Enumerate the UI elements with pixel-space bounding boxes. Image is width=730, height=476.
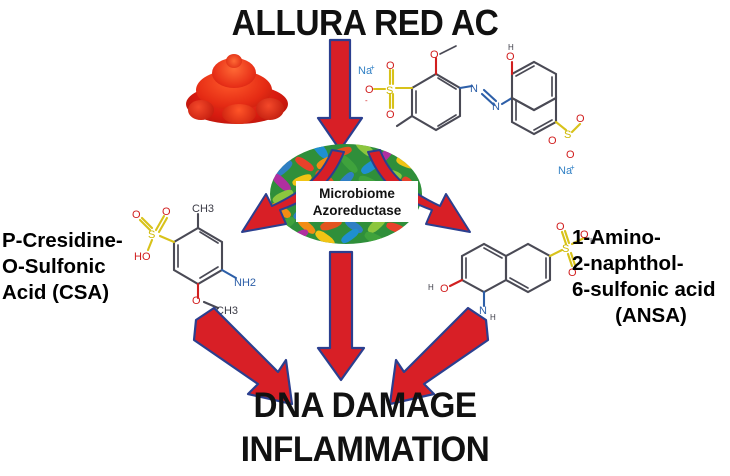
csa-label-line-1: P-Cresidine- (2, 228, 142, 254)
outcome-text: DNA DAMAGE INFLAMMATION (18, 384, 712, 472)
arrow-dye-to-microbiome (316, 40, 366, 155)
ansa-label-line-3: 6-sulfonic acid (572, 277, 730, 303)
outcome-line-2: INFLAMMATION (18, 428, 712, 472)
atom-azo-n1: N (470, 83, 478, 95)
atom-sodium-right-charge: + (570, 163, 575, 172)
atom-sulfonate-left-o-bottom: O (386, 109, 395, 121)
atom-ansa-o-top: O (556, 221, 565, 233)
atom-hydroxyl-h: H (508, 43, 514, 52)
atom-csa-amine: NH2 (234, 277, 256, 289)
microbiome-label-line-2: Azoreductase (313, 202, 402, 219)
atom-ansa-s: S (562, 243, 569, 255)
atom-csa-methyl: CH3 (192, 203, 214, 215)
page-title: ALLURA RED AC (26, 2, 705, 44)
dye-powder-image (182, 54, 292, 126)
atom-ansa-hydroxyl-o: O (440, 283, 449, 295)
outcome-line-1: DNA DAMAGE (18, 384, 712, 428)
ansa-label-line-4: (ANSA) (572, 303, 730, 329)
microbiome-label-line-1: Microbiome (319, 185, 395, 202)
atom-sodium-left-charge: + (370, 63, 375, 72)
atom-sulfonate-right-s: S (564, 129, 571, 141)
figure-canvas: ALLURA RED AC O (0, 0, 730, 476)
ansa-label-line-1: 1-Amino- (572, 225, 730, 251)
csa-label-line-3: Acid (CSA) (2, 280, 142, 306)
ansa-label-line-2: 2-naphthol- (572, 251, 730, 277)
atom-ansa-hydroxyl-h: H (428, 283, 434, 292)
microbiome-label-box: Microbiome Azoreductase (296, 181, 418, 222)
atom-sulfonate-left-o-top: O (386, 60, 395, 72)
atom-hydroxyl-o: O (506, 51, 515, 63)
atom-sulfonate-right-o-minus: O (566, 149, 575, 161)
atom-sulfonate-right-o-left: O (548, 135, 557, 147)
csa-structure: CH3 S O O HO NH2 O CH3 (130, 196, 260, 326)
atom-csa-ether-o: O (192, 295, 201, 307)
atom-methoxy-o: O (430, 49, 439, 61)
atom-sulfonate-left-o-minus: O (365, 84, 374, 96)
atom-csa-o-top: O (162, 206, 171, 218)
atom-sulfonate-left-s: S (386, 85, 393, 97)
atom-azo-n2: N (492, 101, 500, 113)
csa-label-line-2: O-Sulfonic (2, 254, 142, 280)
atom-csa-s: S (148, 229, 155, 241)
atom-sulfonate-right-o-top: O (576, 113, 585, 125)
csa-label: P-Cresidine- O-Sulfonic Acid (CSA) (2, 228, 142, 306)
atom-csa-o-left: O (132, 209, 141, 221)
ansa-label: 1-Amino- 2-naphthol- 6-sulfonic acid (AN… (572, 225, 730, 329)
arrow-microbiome-to-outcome (318, 252, 368, 384)
